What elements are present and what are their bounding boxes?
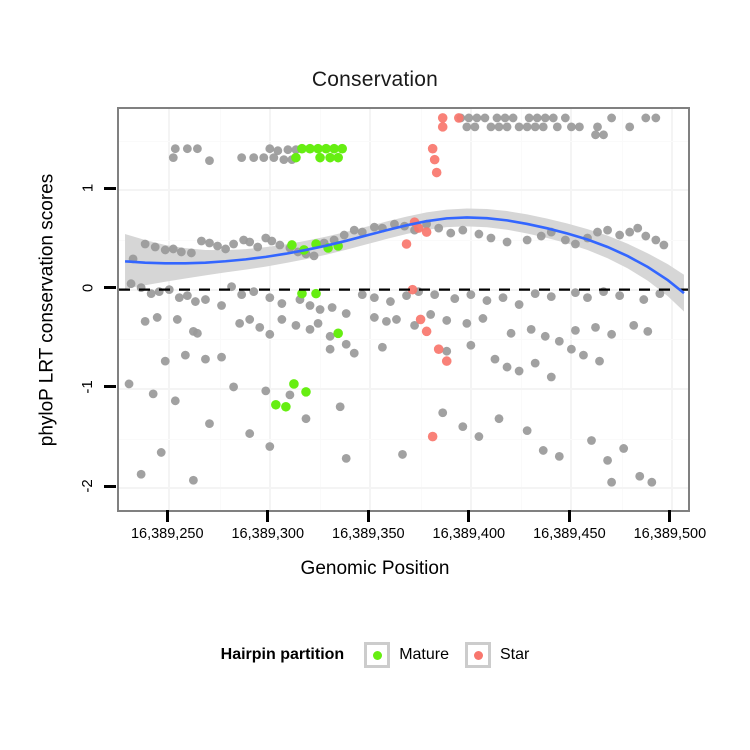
y-axis-tick-label-text: -2: [80, 479, 97, 492]
y-axis-tick: [104, 385, 116, 388]
data-point-other: [265, 330, 274, 339]
data-point-other: [187, 249, 196, 258]
data-point-star: [434, 344, 444, 354]
data-point-other: [193, 144, 202, 153]
data-point-other: [579, 351, 588, 360]
data-point-other: [495, 414, 504, 423]
data-point-other: [462, 319, 471, 328]
x-axis-tick: [166, 510, 169, 522]
x-axis-tick-label: 16,389,400: [433, 526, 506, 542]
data-point-other: [161, 246, 170, 255]
x-axis-tick: [568, 510, 571, 522]
data-point-other: [539, 122, 548, 131]
data-point-other: [571, 288, 580, 297]
data-point-other: [306, 301, 315, 310]
data-point-other: [487, 122, 496, 131]
legend: Hairpin partition MatureStar: [0, 642, 750, 668]
data-point-other: [595, 357, 604, 366]
data-point-other: [547, 373, 556, 382]
x-axis-title: Genomic Position: [0, 558, 750, 580]
data-point-other: [430, 290, 439, 299]
data-point-other: [326, 345, 335, 354]
data-point-other: [161, 357, 170, 366]
data-point-other: [607, 478, 616, 487]
data-point-other: [458, 226, 467, 235]
data-point-mature: [271, 400, 281, 410]
data-point-other: [342, 340, 351, 349]
data-point-other: [398, 450, 407, 459]
data-point-other: [643, 327, 652, 336]
data-point-other: [475, 432, 484, 441]
data-point-other: [541, 114, 550, 123]
data-point-other: [191, 297, 200, 306]
data-point-other: [283, 145, 292, 154]
data-point-other: [169, 245, 178, 254]
data-point-other: [509, 114, 518, 123]
data-point-other: [434, 224, 443, 233]
data-point-mature: [289, 379, 299, 389]
data-point-other: [275, 241, 284, 250]
data-point-other: [599, 130, 608, 139]
data-point-other: [472, 114, 481, 123]
data-point-other: [205, 239, 214, 248]
data-point-other: [370, 223, 379, 232]
data-point-other: [515, 367, 524, 376]
data-point-other: [442, 347, 451, 356]
data-point-other: [183, 144, 192, 153]
data-point-other: [286, 390, 295, 399]
data-point-other: [647, 478, 656, 487]
data-point-other: [386, 297, 395, 306]
data-point-other: [629, 321, 638, 330]
x-axis-tick-label: 16,389,250: [131, 526, 204, 542]
data-point-other: [466, 290, 475, 299]
data-point-other: [549, 114, 558, 123]
data-point-other: [635, 472, 644, 481]
legend-label: Mature: [399, 646, 449, 664]
data-point-other: [221, 245, 230, 254]
data-point-other: [641, 232, 650, 241]
data-point-star: [430, 155, 440, 165]
data-point-other: [619, 444, 628, 453]
data-point-other: [499, 293, 508, 302]
x-axis-tick: [266, 510, 269, 522]
x-axis-tick-label: 16,389,350: [332, 526, 405, 542]
y-axis-tick: [104, 485, 116, 488]
data-point-star: [428, 144, 438, 154]
data-point-other: [197, 237, 206, 246]
data-point-other: [141, 317, 150, 326]
data-point-other: [539, 446, 548, 455]
x-axis-tick-label: 16,389,300: [231, 526, 304, 542]
data-point-other: [503, 363, 512, 372]
data-point-other: [127, 279, 136, 288]
data-point-other: [507, 329, 516, 338]
data-point-other: [641, 114, 650, 123]
data-point-other: [245, 238, 254, 247]
data-point-other: [177, 248, 186, 257]
data-point-other: [153, 313, 162, 322]
data-point-other: [625, 122, 634, 131]
data-point-other: [249, 287, 258, 296]
data-point-other: [442, 316, 451, 325]
data-point-other: [523, 236, 532, 245]
data-point-other: [426, 310, 435, 319]
data-point-other: [217, 353, 226, 362]
data-point-other: [571, 240, 580, 249]
data-point-other: [235, 319, 244, 328]
data-point-other: [553, 122, 562, 131]
data-point-other: [183, 291, 192, 300]
data-point-other: [249, 153, 258, 162]
data-point-star: [454, 113, 464, 123]
data-point-other: [491, 355, 500, 364]
data-point-other: [651, 114, 660, 123]
x-axis-tick-label: 16,389,500: [634, 526, 707, 542]
data-point-mature: [315, 153, 325, 163]
data-point-other: [533, 114, 542, 123]
data-point-star: [438, 113, 448, 123]
y-axis-tick: [104, 286, 116, 289]
y-axis-title: phyloP LRT conservation scores: [30, 107, 64, 512]
data-point-mature: [337, 144, 347, 154]
data-point-other: [245, 429, 254, 438]
data-point-other: [633, 224, 642, 233]
data-point-other: [547, 292, 556, 301]
data-point-other: [189, 476, 198, 485]
data-point-other: [479, 314, 488, 323]
data-point-other: [625, 228, 634, 237]
data-point-other: [567, 345, 576, 354]
data-point-other: [475, 230, 484, 239]
data-point-mature: [301, 387, 311, 397]
legend-dot-star: [474, 651, 483, 660]
plot-panel: [117, 107, 690, 512]
data-point-other: [326, 332, 335, 341]
data-point-star: [438, 122, 448, 132]
legend-key: [465, 642, 491, 668]
data-point-other: [567, 122, 576, 131]
data-point-other: [531, 289, 540, 298]
data-point-other: [515, 300, 524, 309]
data-point-other: [336, 402, 345, 411]
data-point-other: [593, 122, 602, 131]
data-point-other: [561, 114, 570, 123]
data-point-other: [157, 448, 166, 457]
y-axis-tick-label-text: -1: [80, 380, 97, 393]
data-point-other: [292, 321, 301, 330]
data-point-other: [639, 295, 648, 304]
data-point-other: [527, 325, 536, 334]
legend-dot-mature: [373, 651, 382, 660]
data-point-other: [378, 343, 387, 352]
data-point-other: [495, 122, 504, 131]
data-point-other: [171, 144, 180, 153]
y-axis-tick-label: 1: [75, 180, 101, 197]
data-point-other: [571, 326, 580, 335]
data-point-other: [314, 319, 323, 328]
data-point-mature: [281, 402, 291, 412]
data-point-other: [659, 241, 668, 250]
data-point-star: [442, 356, 452, 366]
y-axis-tick-label-text: 0: [80, 283, 97, 291]
x-axis-tick: [367, 510, 370, 522]
data-point-other: [593, 228, 602, 237]
data-point-star: [402, 239, 412, 249]
data-point-other: [591, 130, 600, 139]
data-point-other: [392, 315, 401, 324]
data-point-other: [217, 301, 226, 310]
data-point-other: [555, 337, 564, 346]
data-point-other: [525, 114, 534, 123]
data-point-other: [141, 240, 150, 249]
data-point-other: [261, 386, 270, 395]
data-point-other: [483, 296, 492, 305]
data-point-other: [458, 422, 467, 431]
data-point-other: [466, 341, 475, 350]
data-point-other: [316, 305, 325, 314]
data-point-other: [583, 293, 592, 302]
data-point-other: [370, 313, 379, 322]
legend-item-star[interactable]: Star: [465, 642, 529, 668]
data-point-other: [615, 231, 624, 240]
legend-key: [364, 642, 390, 668]
data-point-other: [382, 317, 391, 326]
data-point-other: [523, 122, 532, 131]
data-point-other: [205, 419, 214, 428]
data-point-other: [169, 153, 178, 162]
data-point-other: [503, 238, 512, 247]
data-point-other: [501, 114, 510, 123]
data-point-other: [310, 252, 319, 261]
data-point-other: [137, 470, 146, 479]
data-point-other: [531, 122, 540, 131]
data-point-other: [350, 226, 359, 235]
data-point-other: [607, 330, 616, 339]
data-point-other: [255, 323, 264, 332]
x-axis-tick: [668, 510, 671, 522]
data-point-other: [591, 323, 600, 332]
data-point-mature: [333, 329, 343, 339]
y-axis-tick-label-text: 1: [80, 184, 97, 192]
data-point-other: [237, 290, 246, 299]
data-point-other: [306, 325, 315, 334]
data-point-other: [193, 329, 202, 338]
data-point-other: [481, 114, 490, 123]
data-point-other: [340, 231, 349, 240]
data-point-star: [422, 227, 432, 237]
x-axis-tick-label: 16,389,450: [533, 526, 606, 542]
data-point-star: [416, 315, 426, 325]
data-point-other: [173, 315, 182, 324]
data-point-other: [615, 291, 624, 300]
data-point-other: [503, 122, 512, 131]
scatter-geometry-layer: [119, 109, 688, 510]
data-point-other: [205, 156, 214, 165]
data-point-other: [253, 243, 262, 252]
data-point-other: [267, 237, 276, 246]
data-point-other: [342, 454, 351, 463]
data-point-other: [171, 396, 180, 405]
data-point-other: [265, 144, 274, 153]
data-point-other: [277, 299, 286, 308]
data-point-other: [493, 114, 502, 123]
data-point-other: [515, 122, 524, 131]
data-point-other: [265, 442, 274, 451]
data-point-other: [446, 229, 455, 238]
y-axis-tick: [104, 187, 116, 190]
data-point-other: [450, 294, 459, 303]
data-point-other: [603, 226, 612, 235]
data-point-other: [531, 359, 540, 368]
data-point-other: [277, 315, 286, 324]
data-point-other: [342, 309, 351, 318]
data-point-other: [487, 234, 496, 243]
x-axis-tick: [467, 510, 470, 522]
y-axis-tick-label: 0: [75, 279, 101, 296]
data-point-other: [603, 456, 612, 465]
data-point-other: [462, 122, 471, 131]
data-point-other: [279, 155, 288, 164]
data-point-other: [537, 232, 546, 241]
data-point-star: [422, 327, 432, 337]
data-point-other: [464, 114, 473, 123]
data-point-other: [213, 242, 222, 251]
data-point-other: [328, 303, 337, 312]
data-point-star: [432, 168, 442, 178]
data-point-other: [358, 290, 367, 299]
data-point-other: [237, 153, 246, 162]
data-point-mature: [333, 153, 343, 163]
y-axis-tick-label: -1: [75, 378, 101, 395]
data-point-other: [181, 351, 190, 360]
data-point-other: [151, 243, 160, 252]
data-point-other: [265, 293, 274, 302]
data-point-other: [370, 293, 379, 302]
data-point-other: [523, 426, 532, 435]
legend-label: Star: [500, 646, 529, 664]
data-point-other: [561, 236, 570, 245]
data-point-other: [273, 146, 282, 155]
data-point-other: [607, 114, 616, 123]
data-point-other: [175, 293, 184, 302]
page-title: Conservation: [0, 68, 750, 92]
data-point-other: [302, 414, 311, 423]
y-axis-tick-label: -2: [75, 478, 101, 495]
data-point-other: [587, 436, 596, 445]
data-point-other: [259, 153, 268, 162]
data-point-star: [428, 432, 438, 442]
legend-item-mature[interactable]: Mature: [364, 642, 449, 668]
data-point-other: [201, 355, 210, 364]
data-point-other: [575, 122, 584, 131]
data-point-other: [541, 332, 550, 341]
data-point-other: [350, 349, 359, 358]
data-point-other: [149, 389, 158, 398]
data-point-mature: [287, 240, 297, 250]
legend-title: Hairpin partition: [221, 646, 345, 664]
data-point-other: [651, 236, 660, 245]
data-point-other: [555, 452, 564, 461]
data-point-other: [470, 122, 479, 131]
data-point-other: [245, 315, 254, 324]
data-point-other: [201, 295, 210, 304]
data-point-other: [438, 408, 447, 417]
data-point-mature: [291, 153, 301, 163]
data-point-other: [229, 383, 238, 392]
data-point-other: [125, 380, 134, 389]
data-point-other: [229, 240, 238, 249]
